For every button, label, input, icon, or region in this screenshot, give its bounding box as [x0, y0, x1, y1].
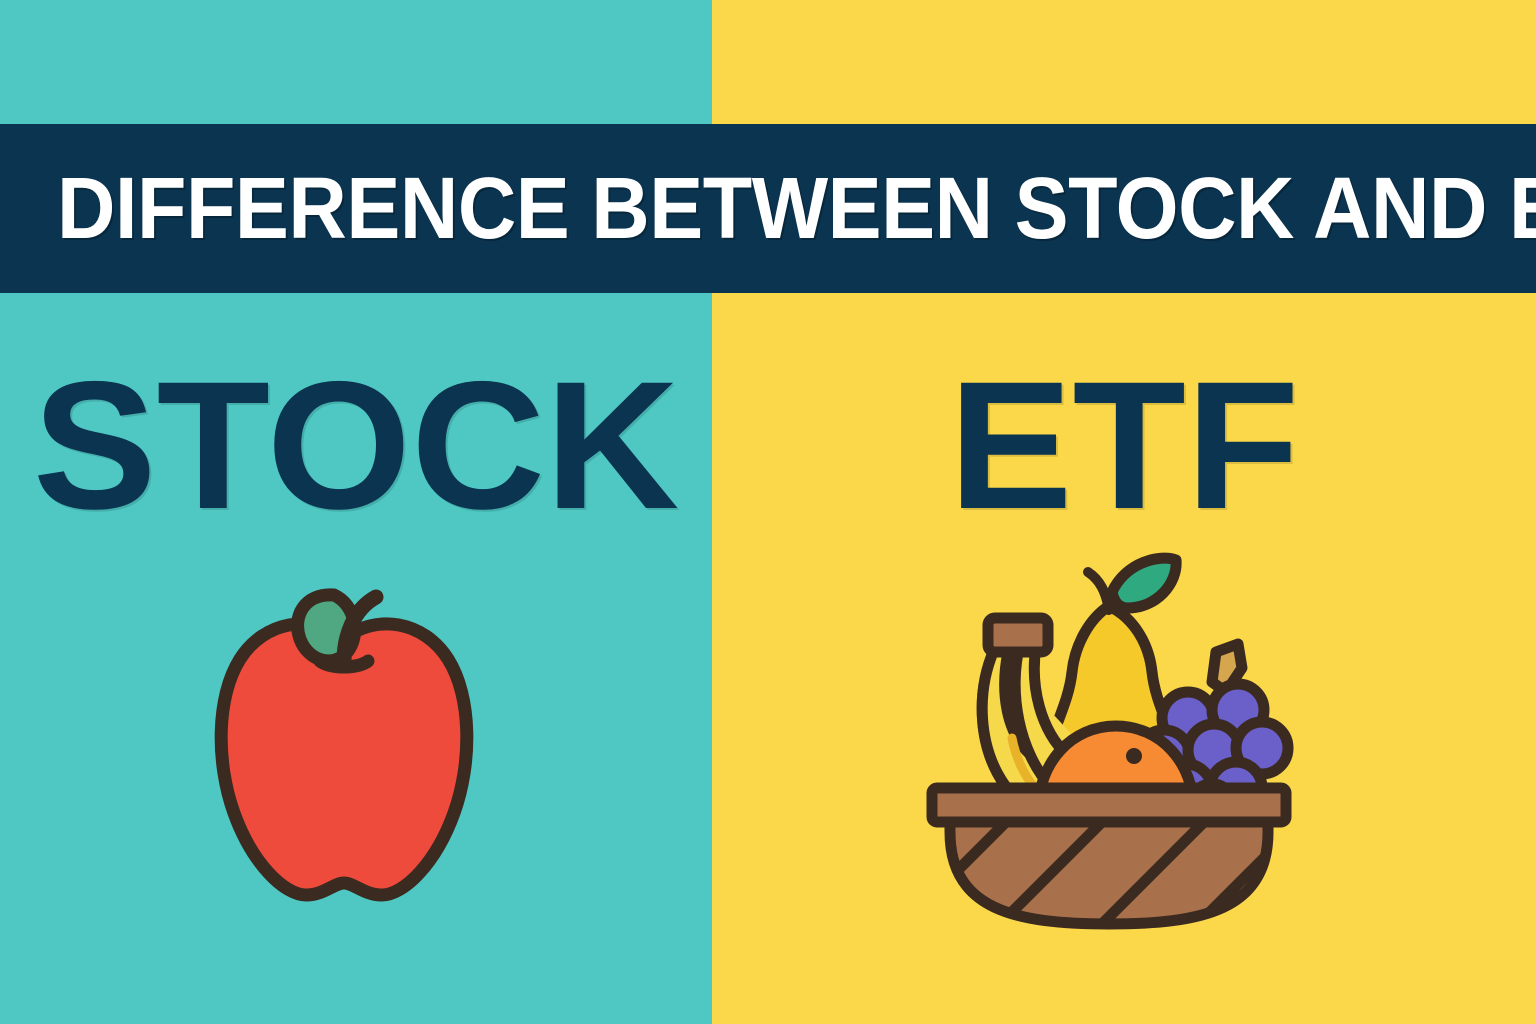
etf-label: ETF — [704, 354, 1536, 536]
stock-label: STOCK — [0, 354, 719, 536]
fruit-basket-icon — [920, 540, 1298, 932]
apple-dimple — [320, 661, 368, 667]
basket-rim — [932, 788, 1286, 822]
pear-stem — [1088, 572, 1109, 610]
pear-leaf — [1112, 558, 1176, 608]
page-title: DIFFERENCE BETWEEN STOCK AND ETF — [57, 165, 1536, 252]
apple-icon — [208, 565, 480, 910]
orange-navel — [1126, 748, 1142, 764]
title-band: DIFFERENCE BETWEEN STOCK AND ETF — [0, 124, 1536, 293]
banana-stem-block — [988, 618, 1048, 652]
infographic-canvas: DIFFERENCE BETWEEN STOCK AND ETF STOCK E… — [0, 0, 1536, 1024]
